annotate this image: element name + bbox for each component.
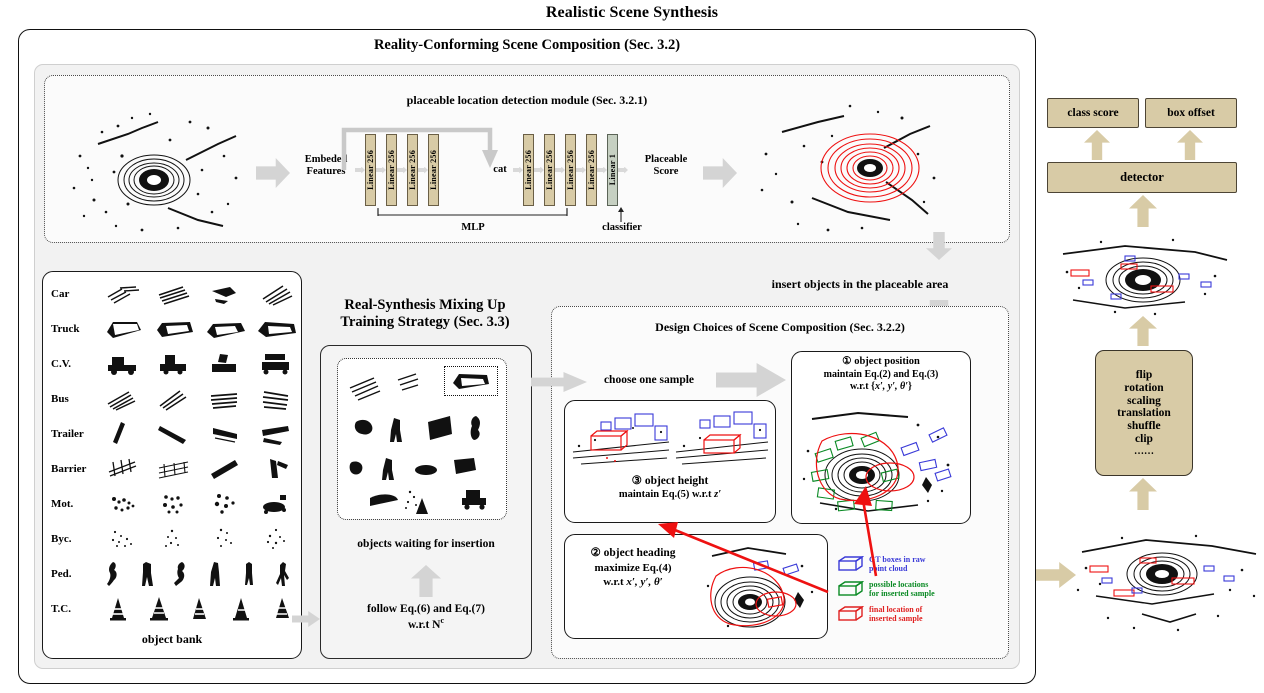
object-bank-samples — [98, 521, 302, 556]
box-3d-icon — [838, 556, 864, 572]
augmentation-item-flip: flip — [1136, 369, 1153, 382]
legend-text: possible locations for inserted sample — [869, 581, 935, 599]
object-height-eq-prefix: maintain Eq.(5) w.r.t — [619, 489, 714, 500]
object-bank-row: Bus — [42, 381, 302, 416]
point-cloud-sample — [207, 456, 245, 482]
synthesized-scene-point-cloud — [1072, 530, 1262, 640]
class-score-box: class score — [1047, 98, 1139, 128]
mlp-brace — [377, 208, 569, 221]
linear-layer-6: Linear 256 — [544, 134, 555, 206]
arrow-detector-to-class-score — [1084, 130, 1110, 160]
object-bank-label-mot: Mot. — [42, 498, 98, 510]
classifier-pointer — [614, 206, 628, 222]
object-position-wrt-suffix: } — [908, 381, 912, 392]
flow-arrow — [418, 167, 428, 174]
legend-item: final location of inserted sample — [838, 606, 988, 624]
linear-layer-6-label: Linear 256 — [545, 150, 554, 190]
object-bank-label-truck: Truck — [42, 323, 98, 335]
object-bank-label-cv: C.V. — [42, 358, 98, 370]
detector-box: detector — [1047, 162, 1237, 193]
box-3d-icon — [838, 606, 864, 622]
point-cloud-sample — [156, 420, 194, 448]
selected-sample-point-cloud — [446, 368, 496, 394]
point-cloud-sample — [258, 456, 296, 482]
object-height-heading: ③ object height — [564, 474, 776, 488]
point-cloud-sample — [105, 526, 143, 552]
point-cloud-sample — [202, 560, 232, 588]
object-bank-rows: Car Truck C.V. Bus — [42, 276, 302, 626]
linear-layer-8-label: Linear 256 — [587, 150, 596, 190]
point-cloud-sample — [268, 595, 296, 623]
object-bank-row: Ped. — [42, 556, 302, 591]
linear-layer-4: Linear 256 — [428, 134, 439, 206]
object-bank-samples — [98, 451, 302, 486]
flow-arrow — [576, 167, 586, 174]
object-position-wrt: w.r.t {x′, y′, θ′} — [791, 381, 971, 393]
follow-equations-note: follow Eq.(6) and Eq.(7) w.r.t Nc — [320, 602, 532, 633]
augmentation-item-clip: clip — [1135, 433, 1153, 446]
mixing-strategy-title-line2: Training Strategy (Sec. 3.3) — [317, 314, 533, 331]
object-bank-samples — [98, 416, 302, 451]
object-bank-label-ped: Ped. — [42, 568, 98, 580]
classifier-linear-layer: Linear 1 — [607, 134, 618, 206]
point-cloud-sample — [154, 316, 196, 342]
flow-arrow — [513, 167, 523, 174]
point-cloud-sample — [104, 595, 132, 623]
object-bank-label-bus: Bus — [42, 393, 98, 405]
object-bank-samples — [98, 486, 302, 521]
object-bank-label-car: Car — [42, 288, 98, 300]
point-cloud-sample — [156, 386, 194, 412]
insert-objects-note: insert objects in the placeable area — [700, 277, 1020, 292]
linear-layer-5-label: Linear 256 — [524, 150, 533, 190]
flow-arrow — [597, 167, 607, 174]
point-cloud-sample — [105, 386, 143, 412]
object-position-text: ① object position maintain Eq.(2) and Eq… — [791, 356, 971, 393]
linear-layer-4-label: Linear 256 — [429, 150, 438, 190]
object-height-eq: maintain Eq.(5) w.r.t z′ — [564, 488, 776, 501]
point-cloud-sample — [105, 491, 143, 517]
point-cloud-sample — [100, 560, 130, 588]
object-bank-samples — [98, 556, 302, 591]
detector-label: detector — [1120, 170, 1164, 185]
point-cloud-sample — [104, 281, 144, 307]
figure-title: Realistic Scene Synthesis — [0, 4, 1264, 22]
object-bank-row: Car — [42, 276, 302, 311]
mlp-post-stack: Linear 256 Linear 256 Linear 256 Linear … — [513, 134, 628, 206]
flow-arrow — [376, 167, 386, 174]
mlp-pre-stack: Linear 256 Linear 256 Linear 256 Linear … — [355, 134, 439, 206]
object-height-label: object height — [645, 475, 709, 487]
object-bank-label-trailer: Trailer — [42, 428, 98, 440]
linear-layer-8: Linear 256 — [586, 134, 597, 206]
arrow-aug-to-cloud — [1129, 316, 1157, 346]
classifier-linear-label: Linear 1 — [608, 154, 617, 185]
flow-arrow — [618, 167, 628, 174]
step-2-marker: ② — [590, 547, 600, 559]
object-bank-samples — [98, 311, 302, 346]
follow-equations-sup: c — [440, 616, 444, 625]
object-height-point-cloud-right — [674, 406, 770, 468]
object-heading-wrt-vars: x′, y′, θ′ — [626, 576, 662, 588]
linear-layer-2-label: Linear 256 — [387, 150, 396, 190]
box-offset-box: box offset — [1145, 98, 1237, 128]
augmentation-box: flip rotation scaling translation shuffl… — [1095, 350, 1193, 476]
object-bank-label-barrier: Barrier — [42, 463, 98, 475]
augmentation-item-shuffle: shuffle — [1127, 420, 1160, 433]
point-cloud-sample — [207, 420, 245, 448]
legend: GT boxes in raw point cloud possible loc… — [838, 556, 988, 631]
flow-arrow — [397, 167, 407, 174]
linear-layer-2: Linear 256 — [386, 134, 397, 206]
design-choices-title: Design Choices of Scene Composition (Sec… — [551, 320, 1009, 335]
object-bank-row: T.C. — [42, 591, 302, 626]
point-cloud-sample — [206, 281, 246, 307]
object-heading-heading: ② object heading — [568, 546, 698, 561]
point-cloud-sample — [258, 491, 296, 517]
placeable-score-label: Placeable Score — [638, 154, 694, 178]
object-position-eq: maintain Eq.(2) and Eq.(3) — [791, 369, 971, 381]
legend-item: possible locations for inserted sample — [838, 581, 988, 599]
point-cloud-sample — [256, 316, 298, 342]
linear-layer-1-label: Linear 256 — [366, 150, 375, 190]
object-position-point-cloud — [798, 405, 964, 519]
point-cloud-sample — [105, 456, 143, 482]
detector-input-point-cloud — [1055, 230, 1231, 318]
object-bank-samples — [98, 381, 302, 416]
point-cloud-sample — [258, 386, 296, 412]
object-heading-wrt: w.r.t x′, y′, θ′ — [568, 575, 698, 589]
objects-waiting-caption: objects waiting for insertion — [320, 538, 532, 550]
point-cloud-sample — [258, 526, 296, 552]
choose-one-sample-label: choose one sample — [588, 374, 710, 386]
arrow-detector-to-box-offset — [1177, 130, 1203, 160]
linear-layer-3-label: Linear 256 — [408, 150, 417, 190]
flow-arrow — [555, 167, 565, 174]
object-bank-row: Trailer — [42, 416, 302, 451]
point-cloud-sample — [207, 526, 245, 552]
point-cloud-sample — [206, 351, 246, 377]
object-position-heading: ① object position — [791, 356, 971, 369]
placeable-score-line1: Placeable — [638, 154, 694, 166]
object-bank-row: Byc. — [42, 521, 302, 556]
classifier-label: classifier — [583, 222, 661, 233]
arrow-synth-to-aug — [1129, 478, 1157, 510]
object-heading-label: object heading — [604, 547, 676, 559]
object-bank-row: Barrier — [42, 451, 302, 486]
main-panel-title: Reality-Conforming Scene Composition (Se… — [18, 37, 1036, 54]
placeable-score-line2: Score — [638, 166, 694, 178]
point-cloud-sample — [156, 456, 194, 482]
point-cloud-sample — [227, 595, 255, 623]
object-bank-row: Truck — [42, 311, 302, 346]
arrow-cloud-to-detector — [1129, 195, 1157, 227]
object-position-label: object position — [854, 356, 920, 367]
box-offset-label: box offset — [1167, 107, 1215, 119]
linear-layer-7-label: Linear 256 — [566, 150, 575, 190]
point-cloud-sample — [270, 560, 300, 588]
object-heading-point-cloud — [702, 540, 822, 632]
point-cloud-sample — [134, 560, 164, 588]
object-bank-label-tc: T.C. — [42, 603, 98, 615]
flow-arrow — [355, 167, 365, 174]
point-cloud-sample — [205, 316, 247, 342]
point-cloud-sample — [258, 420, 296, 448]
object-bank-label-byc: Byc. — [42, 533, 98, 545]
mixing-strategy-title-line1: Real-Synthesis Mixing Up — [317, 297, 533, 314]
object-bank-samples — [98, 346, 302, 381]
mlp-label: MLP — [377, 222, 569, 233]
step-3-marker: ③ — [632, 475, 642, 487]
object-bank-caption: object bank — [42, 632, 302, 647]
point-cloud-sample — [168, 560, 198, 588]
arrow-pipeline-to-synth-cloud — [1036, 562, 1076, 588]
point-cloud-sample — [155, 351, 195, 377]
linear-layer-1: Linear 256 — [365, 134, 376, 206]
point-cloud-sample — [186, 595, 214, 623]
object-heading-wrt-prefix: w.r.t — [603, 576, 626, 588]
object-position-wrt-vars: x′, y′, θ′ — [875, 381, 908, 392]
flow-arrow — [534, 167, 544, 174]
object-heading-text: ② object heading maximize Eq.(4) w.r.t x… — [568, 546, 698, 590]
object-height-eq-var: z′ — [714, 489, 721, 500]
augmentation-item-ellipsis: …… — [1134, 446, 1154, 457]
object-heading-eq: maximize Eq.(4) — [568, 561, 698, 575]
class-score-label: class score — [1067, 107, 1118, 119]
point-cloud-sample — [257, 351, 297, 377]
point-cloud-sample — [257, 281, 297, 307]
point-cloud-sample — [236, 560, 266, 588]
linear-layer-3: Linear 256 — [407, 134, 418, 206]
cat-label: cat — [485, 164, 515, 175]
placeable-score-point-cloud — [752, 102, 942, 238]
linear-layer-5: Linear 256 — [523, 134, 534, 206]
object-bank-samples — [98, 276, 302, 311]
mixing-strategy-title: Real-Synthesis Mixing Up Training Strate… — [317, 297, 533, 332]
object-bank-row: C.V. — [42, 346, 302, 381]
object-bank-row: Mot. — [42, 486, 302, 521]
follow-equations-line1: follow Eq.(6) and Eq.(7) — [320, 602, 532, 616]
step-1-marker: ① — [842, 356, 851, 367]
augmentation-item-rotation: rotation — [1124, 382, 1163, 395]
object-height-point-cloud-left — [571, 406, 671, 468]
object-height-text: ③ object height maintain Eq.(5) w.r.t z′ — [564, 474, 776, 502]
point-cloud-sample — [145, 595, 173, 623]
point-cloud-sample — [207, 491, 245, 517]
point-cloud-sample — [103, 316, 145, 342]
legend-line2: inserted sample — [869, 615, 923, 624]
object-position-wrt-prefix: w.r.t { — [850, 381, 875, 392]
input-point-cloud — [58, 108, 248, 236]
follow-equations-wrt: w.r.t N — [408, 619, 440, 631]
box-3d-icon — [838, 581, 864, 597]
point-cloud-sample — [155, 281, 195, 307]
follow-equations-line2: w.r.t Nc — [320, 616, 532, 632]
point-cloud-sample — [156, 526, 194, 552]
legend-line2: for inserted sample — [869, 590, 935, 599]
point-cloud-sample — [104, 351, 144, 377]
augmentation-item-scaling: scaling — [1127, 395, 1161, 408]
point-cloud-sample — [207, 386, 245, 412]
linear-layer-7: Linear 256 — [565, 134, 576, 206]
legend-line2: point cloud — [869, 565, 926, 574]
legend-item: GT boxes in raw point cloud — [838, 556, 988, 574]
point-cloud-sample — [156, 491, 194, 517]
object-bank-samples — [98, 591, 302, 626]
selected-sample-highlight[interactable] — [444, 366, 498, 396]
legend-text: final location of inserted sample — [869, 606, 923, 624]
legend-text: GT boxes in raw point cloud — [869, 556, 926, 574]
augmentation-item-translation: translation — [1117, 407, 1171, 420]
point-cloud-sample — [105, 420, 143, 448]
